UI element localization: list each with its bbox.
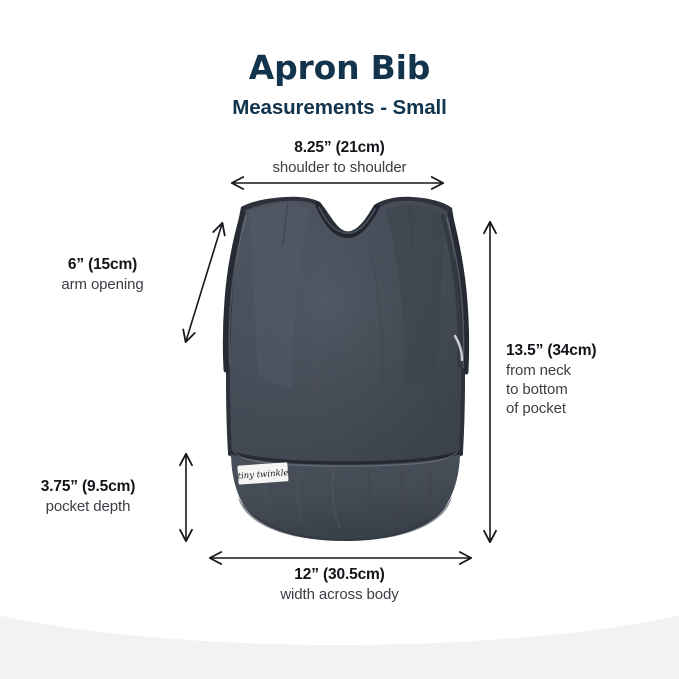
- pocket-depth-measurement-label: 3.75” (9.5cm) pocket depth: [0, 477, 176, 516]
- width-measurement-label: 12” (30.5cm) width across body: [0, 565, 679, 604]
- measurement-diagram-page: Apron Bib Measurements - Small: [0, 0, 679, 679]
- shoulder-measurement-label: 8.25” (21cm) shoulder to shoulder: [0, 138, 679, 177]
- arm-opening-measurement-value: 6” (15cm): [10, 255, 195, 275]
- pocket-depth-measurement-value: 3.75” (9.5cm): [0, 477, 176, 497]
- width-measurement-value: 12” (30.5cm): [0, 565, 679, 585]
- pocket-depth-measurement-description: pocket depth: [0, 497, 176, 516]
- shoulder-measurement-description: shoulder to shoulder: [0, 158, 679, 177]
- arm-opening-measurement-label: 6” (15cm) arm opening: [10, 255, 195, 294]
- neck-to-pocket-description-line-1: from neck: [506, 361, 671, 380]
- neck-to-pocket-description-line-2: to bottom: [506, 380, 671, 399]
- shoulder-measurement-value: 8.25” (21cm): [0, 138, 679, 158]
- neck-to-pocket-description-line-3: of pocket: [506, 399, 671, 418]
- bib-garment: tiny twinkle: [225, 197, 466, 541]
- neck-to-pocket-measurement-value: 13.5” (34cm): [506, 341, 671, 361]
- brand-label: tiny twinkle: [237, 462, 289, 485]
- arm-opening-measurement-description: arm opening: [10, 275, 195, 294]
- width-measurement-description: width across body: [0, 585, 679, 604]
- neck-to-pocket-measurement-label: 13.5” (34cm) from neck to bottom of pock…: [506, 341, 671, 418]
